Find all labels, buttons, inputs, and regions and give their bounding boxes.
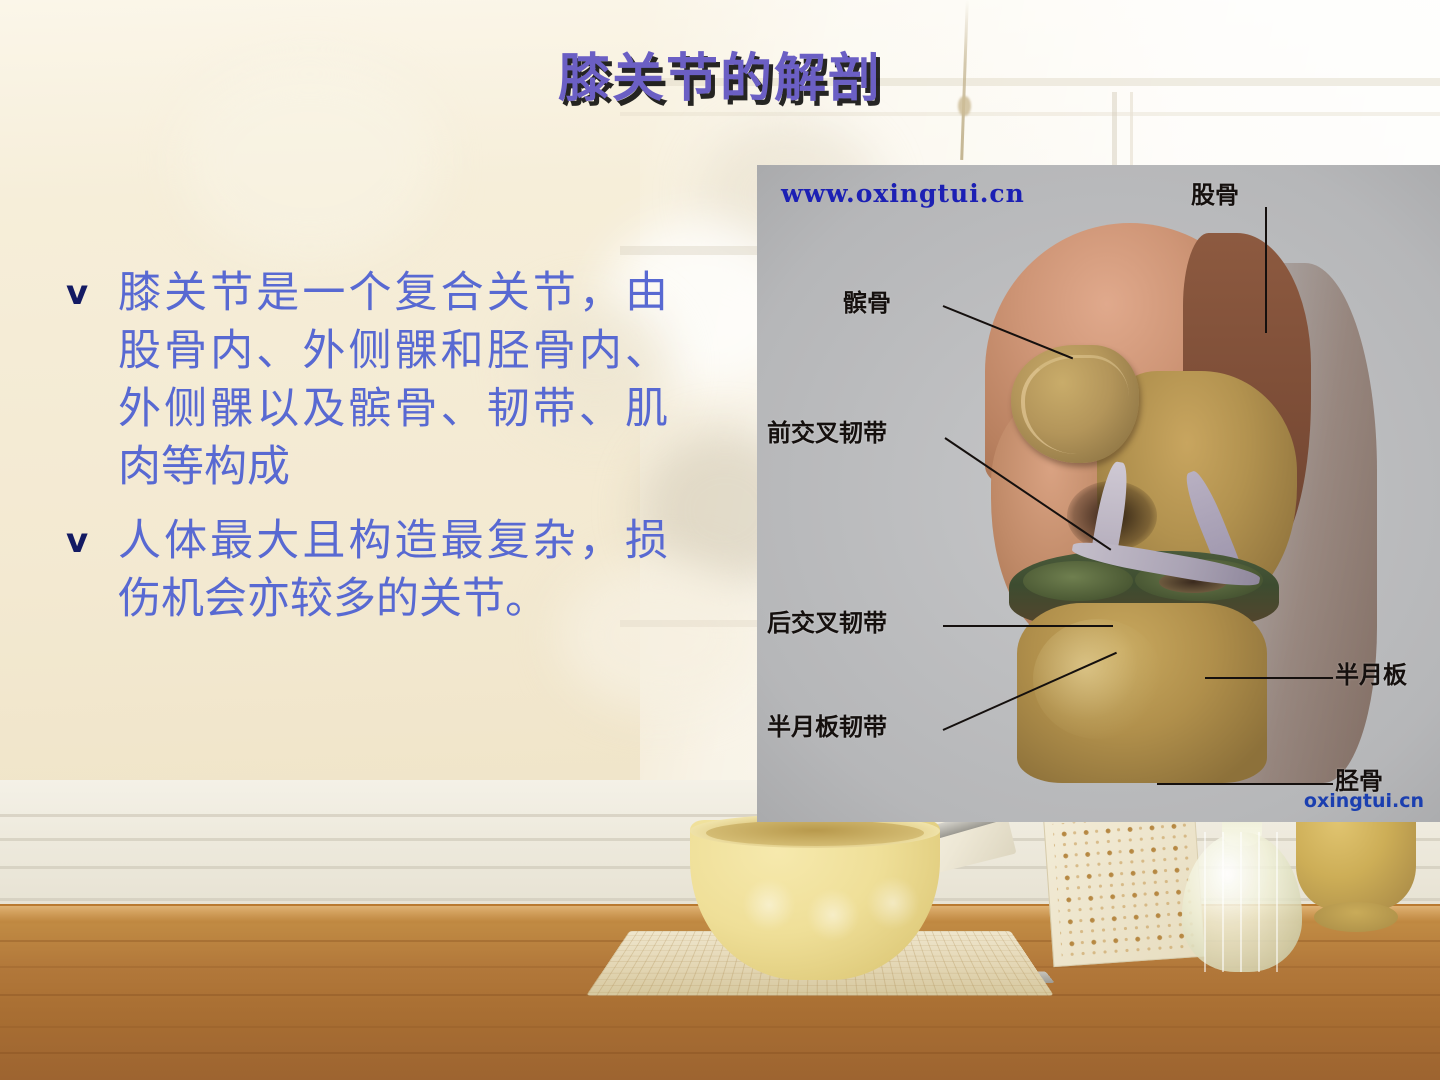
- label-posterior-cruciate: 后交叉韧带: [767, 603, 887, 638]
- knee-model: [947, 223, 1317, 783]
- bullet-marker-icon: v: [58, 264, 118, 322]
- medial-meniscus: [1023, 561, 1133, 601]
- label-femur: 股骨: [1191, 175, 1239, 210]
- patella-edge-highlight: [1021, 355, 1129, 454]
- list-item: v 人体最大且构造最复杂，损伤机会亦较多的关节。: [58, 512, 668, 628]
- slide-title: 膝关节的解剖: [0, 36, 1440, 111]
- label-meniscal-ligament: 半月板韧带: [767, 707, 887, 742]
- bowl-embossing: [806, 888, 860, 942]
- bowl-embossing: [866, 876, 920, 930]
- knee-anatomy-image: www.oxingtui.cn oxingtui.cn 股骨 髌骨 前交叉韧带 …: [757, 165, 1440, 822]
- vase-rib: [1222, 832, 1224, 972]
- label-tibia: 胫骨: [1335, 761, 1383, 796]
- leader-line-tibia: [1157, 783, 1333, 785]
- bullet-text: 膝关节是一个复合关节，由股骨内、外侧髁和胫骨内、外侧髁以及髌骨、韧带、肌肉等构成: [118, 264, 668, 496]
- card-pattern: [1052, 814, 1195, 957]
- bullet-list: v 膝关节是一个复合关节，由股骨内、外侧髁和胫骨内、外侧髁以及髌骨、韧带、肌肉等…: [58, 264, 668, 644]
- patterned-card: [1043, 805, 1205, 967]
- leader-line-pcl: [943, 625, 1113, 627]
- label-patella: 髌骨: [843, 283, 891, 318]
- wood-grain-line: [0, 1026, 1440, 1028]
- label-meniscus: 半月板: [1335, 655, 1407, 690]
- bowl-interior: [706, 820, 924, 846]
- bullet-text: 人体最大且构造最复杂，损伤机会亦较多的关节。: [118, 512, 668, 628]
- background-band: [620, 112, 1440, 116]
- wood-grain-line: [0, 1052, 1440, 1054]
- still-life-photo: [0, 780, 1440, 1080]
- vase-rib: [1240, 832, 1242, 972]
- watermark-top: www.oxingtui.cn: [781, 179, 1025, 208]
- slide: 膝关节的解剖 v 膝关节是一个复合关节，由股骨内、外侧髁和胫骨内、外侧髁以及髌骨…: [0, 0, 1440, 1080]
- leader-line-meniscus: [1205, 677, 1333, 679]
- label-anterior-cruciate: 前交叉韧带: [767, 413, 887, 448]
- bullet-marker-icon: v: [58, 512, 118, 570]
- vase-rib: [1276, 832, 1278, 972]
- vase-rib: [1258, 832, 1260, 972]
- leader-line-femur: [1265, 207, 1267, 333]
- list-item: v 膝关节是一个复合关节，由股骨内、外侧髁和胫骨内、外侧髁以及髌骨、韧带、肌肉等…: [58, 264, 668, 496]
- pedestal-foot: [1314, 902, 1398, 932]
- vase-rib: [1204, 832, 1206, 972]
- bowl-embossing: [742, 878, 796, 932]
